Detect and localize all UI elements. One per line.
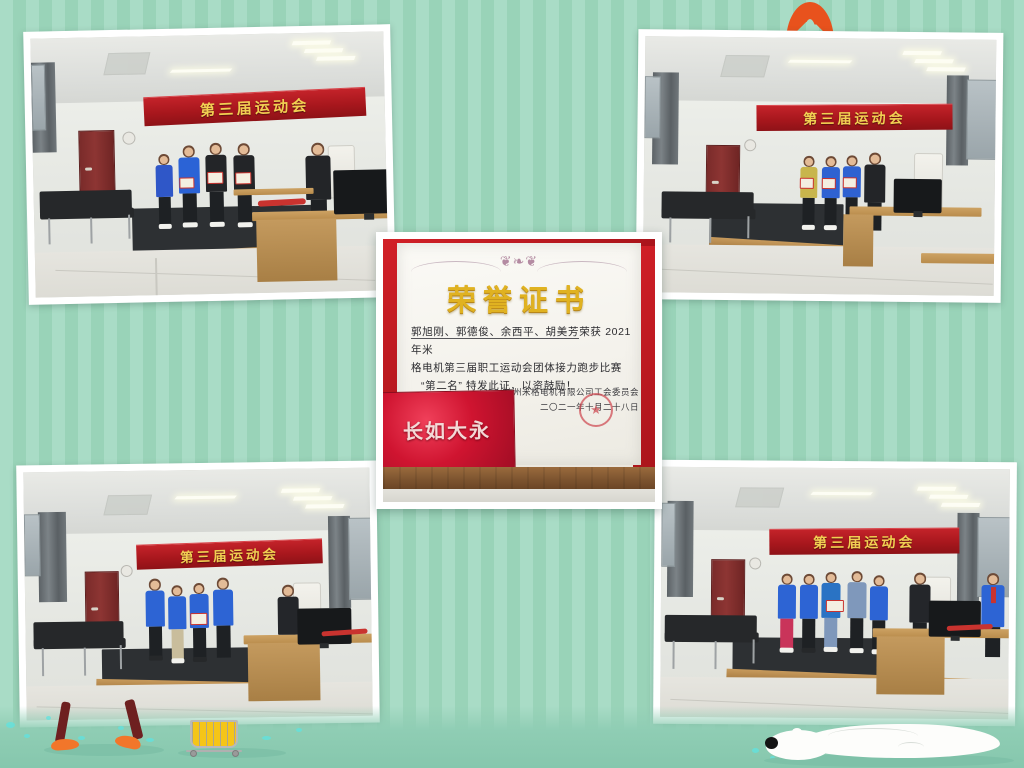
sparkle-icon	[800, 754, 806, 758]
running-shoe-icon	[51, 738, 80, 751]
window	[31, 64, 46, 130]
cart-wheel	[232, 750, 239, 757]
certificate-issuer: 杭州米格电机有限公司工会委员会	[504, 385, 639, 400]
sparkle-icon	[752, 748, 759, 753]
ceiling-panel	[103, 52, 150, 75]
chair-row	[34, 638, 126, 649]
bear-outline	[828, 728, 918, 744]
person-recipient	[799, 156, 818, 234]
floor	[26, 682, 372, 721]
banner-text: 第三届运动会	[180, 543, 279, 566]
window	[24, 514, 41, 576]
monitor	[297, 608, 351, 645]
sparkle-icon	[24, 734, 30, 738]
person-staff-blue	[145, 578, 166, 664]
running-shoe-icon	[114, 733, 142, 750]
sparkle-icon	[262, 736, 271, 740]
page-title: Sports Meeting Award Ceremony Photo Coll…	[0, 0, 1, 1]
door-handle	[712, 181, 719, 184]
light-tube	[926, 67, 966, 71]
floor-below-certificate	[383, 489, 655, 502]
sparkle-icon	[770, 756, 775, 760]
photo-card-top-right[interactable]: 第三届运动会	[636, 29, 1004, 303]
bear-ear-icon	[792, 728, 802, 736]
red-calligraphy-plaque: 长如大永	[383, 390, 516, 474]
door-handle	[91, 607, 98, 610]
certificate-body-line-2: 格电机第三届职工运动会团体接力跑步比赛	[411, 359, 631, 377]
certificate-held	[826, 600, 844, 612]
chair-row	[40, 208, 134, 220]
monitor-stand	[320, 643, 329, 648]
certificate-title: 荣誉证书	[383, 277, 655, 319]
official-seal-icon: ★	[579, 393, 613, 427]
monitor	[894, 179, 942, 214]
chair-leg	[672, 641, 674, 669]
certificate-held	[235, 172, 251, 184]
desk-front	[256, 218, 337, 282]
person-staff-blue	[799, 574, 819, 658]
ceiling-panel	[720, 55, 770, 77]
sparkle-icon	[6, 722, 15, 728]
certificate-held	[207, 172, 223, 184]
certificate-date: 二〇二一年十月二十八日	[504, 400, 639, 415]
light-tube	[304, 48, 344, 53]
light-tube	[902, 51, 942, 55]
window	[966, 80, 996, 160]
ceiling-panel	[735, 487, 784, 507]
chair-leg	[753, 639, 755, 663]
certificate-signature: 杭州米格电机有限公司工会委员会 二〇二一年十月二十八日	[504, 385, 639, 415]
light-tube	[281, 488, 321, 493]
plaque-text: 长如大永	[383, 391, 515, 473]
certificate-held	[822, 178, 836, 189]
photo-card-top-left[interactable]: 第三届运动会	[23, 24, 396, 305]
desk-front	[843, 214, 874, 266]
red-tie	[991, 587, 996, 603]
ceiling	[645, 36, 997, 109]
certificate-held	[190, 613, 207, 625]
walker-shadow	[44, 744, 164, 756]
cart-wheel	[190, 750, 197, 757]
certificate-body-line-1: 郭旭刚、郭德俊、余西平、胡美芳荣获 2021 年米	[411, 323, 631, 359]
chair-leg	[714, 641, 716, 669]
certificate-photo-card[interactable]: ❦❧❦ 荣誉证书 郭旭刚、郭德俊、余西平、胡美芳荣获 2021 年米 格电机第三…	[376, 232, 662, 509]
bear-paw-outline	[898, 742, 924, 752]
collage-page: 第三届运动会	[0, 0, 1024, 768]
certificate-held	[800, 178, 814, 189]
person-recipient	[820, 156, 840, 234]
bear-head	[766, 730, 830, 760]
person-recipient	[189, 583, 210, 665]
sparkle-icon	[146, 738, 154, 742]
door-handle	[85, 167, 92, 170]
photo-top-left-image: 第三届运动会	[30, 31, 388, 297]
person-staff-blue	[777, 574, 797, 658]
monitor-stand	[951, 636, 960, 641]
chair-row	[665, 632, 759, 643]
chair-leg	[84, 648, 86, 676]
bear-body	[800, 724, 1000, 758]
window	[348, 517, 373, 599]
sparkle-icon	[296, 728, 302, 732]
light-tube	[941, 503, 981, 507]
person-recipient	[205, 143, 229, 233]
person-staff-blue	[212, 578, 234, 666]
cart-shadow	[178, 748, 286, 758]
chair-leg	[42, 648, 44, 676]
photo-card-bottom-right[interactable]: 第三届运动会	[653, 460, 1017, 727]
light-tube	[929, 495, 969, 499]
photo-top-right-image: 第三届运动会	[643, 36, 997, 296]
monitor	[929, 601, 981, 637]
monitor-stand	[364, 214, 374, 220]
photo-card-bottom-left[interactable]: 第三届运动会	[16, 460, 380, 727]
person-recipient	[155, 154, 175, 232]
chair-leg	[120, 645, 122, 669]
certificate-held	[179, 177, 194, 188]
photo-bottom-right-image: 第三届运动会	[660, 467, 1010, 719]
window-curtain	[38, 512, 67, 602]
light-tube	[305, 504, 345, 509]
bear-shadow	[764, 754, 1014, 767]
chair-leg	[709, 218, 711, 243]
floral-ornament-icon: ❦❧❦	[500, 253, 538, 270]
person-staff-blue	[167, 585, 187, 665]
wall-fan	[749, 557, 761, 569]
light-tube	[316, 56, 356, 61]
light-tube	[810, 492, 873, 495]
light-tube	[293, 496, 333, 501]
monitor	[333, 169, 389, 214]
light-tube	[914, 59, 954, 63]
floor	[660, 677, 1008, 719]
banner-text: 第三届运动会	[199, 94, 310, 120]
wood-ledge	[383, 467, 655, 489]
desk-front	[248, 642, 321, 701]
person-recipient	[178, 145, 202, 233]
person-recipient	[821, 572, 842, 658]
sparkle-icon	[78, 736, 85, 740]
light-tube	[292, 40, 332, 45]
certificate-image: ❦❧❦ 荣誉证书 郭旭刚、郭德俊、余西平、胡美芳荣获 2021 年米 格电机第三…	[383, 239, 655, 502]
window	[661, 503, 675, 567]
desk-front	[876, 636, 944, 694]
door-handle	[717, 597, 724, 600]
desk	[921, 253, 996, 264]
ceiling-panel	[103, 495, 152, 516]
light-tube	[917, 487, 957, 491]
bear-nose-icon	[765, 737, 778, 749]
event-banner-top-right: 第三届运动会	[756, 104, 952, 131]
sparkle-icon	[118, 726, 124, 730]
event-banner-bottom-right: 第三届运动会	[769, 528, 959, 555]
certificate-held	[843, 177, 857, 188]
recipient-names: 郭旭刚、郭德俊、余西平、胡美芳	[411, 326, 579, 339]
window	[644, 76, 661, 138]
photo-bottom-left-image: 第三届运动会	[23, 468, 372, 721]
cart-rail	[186, 750, 242, 752]
banner-text: 第三届运动会	[813, 531, 916, 552]
person-recipient	[847, 571, 868, 659]
light-tube	[788, 60, 853, 64]
wall-fan	[744, 139, 756, 151]
monitor-stand	[913, 211, 922, 217]
chair-leg	[747, 216, 749, 238]
chair-leg	[669, 217, 671, 242]
banner-text: 第三届运动会	[803, 108, 906, 129]
